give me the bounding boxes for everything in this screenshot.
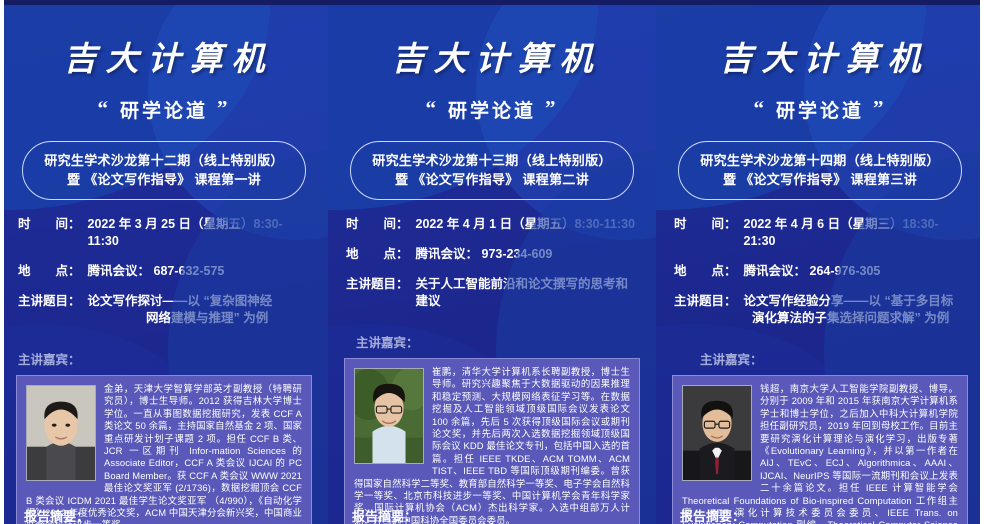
top-strip — [656, 0, 984, 5]
topic-line-2: 网络建模与推理” 为例 — [88, 310, 273, 327]
place-value: 腾讯会议： 973-234-609 — [416, 246, 553, 263]
footer-abstract-label-1: 报告摘要： — [0, 506, 328, 524]
info-row-time: 时 间： 2022 年 4 月 1 日（星期五）8:30-11:30 — [346, 216, 638, 233]
slogan: “研学论道” — [342, 96, 642, 123]
footer-abstract-label-2: 报告摘要： — [328, 506, 656, 524]
slogan: “研学论道” — [670, 96, 970, 123]
capsule-line-2: 暨 《论文写作指导》 课程第三讲 — [685, 170, 955, 189]
right-edge-strip — [980, 0, 984, 524]
info-row-topic: 主讲题目： 论文写作探讨——以 “复杂图神经 网络建模与推理” 为例 — [18, 293, 310, 327]
capsule-line-1: 研究生学术沙龙第十三期（线上特别版） — [357, 151, 627, 170]
footer-abstract-label-3: 报告摘要： — [656, 506, 984, 524]
topic-label: 主讲题目： — [346, 276, 409, 293]
event-title-capsule: 研究生学术沙龙第十四期（线上特别版） 暨 《论文写作指导》 课程第三讲 — [678, 141, 962, 200]
event-info: 时 间： 2022 年 4 月 1 日（星期五）8:30-11:30 地 点： … — [328, 216, 656, 310]
info-row-topic: 主讲题目： 关于人工智能前沿和论文撰写的思考和建议 — [346, 276, 638, 310]
poster-panel-1: 吉大计算机 “研学论道” 研究生学术沙龙第十二期（线上特别版） 暨 《论文写作指… — [0, 0, 328, 524]
topic-line-1: 论文写作探讨——以 “复杂图神经 — [88, 294, 273, 308]
time-label: 时 间： — [674, 216, 737, 233]
left-edge-strip — [0, 0, 4, 524]
place-value: 腾讯会议： 264-976-305 — [744, 263, 881, 280]
open-quote-icon: “ — [744, 96, 776, 120]
slogan-text: 研学论道 — [448, 101, 536, 122]
speaker-photo-3 — [682, 385, 752, 481]
topic-value: 论文写作经验分享——以 “基于多目标 演化算法的子集选择问题求解” 为例 — [744, 293, 954, 327]
topic-label: 主讲题目： — [18, 293, 81, 310]
time-value: 2022 年 3 月 25 日（星期五）8:30-11:30 — [88, 216, 310, 250]
capsule-line-1: 研究生学术沙龙第十四期（线上特别版） — [685, 151, 955, 170]
place-label: 地 点： — [18, 263, 81, 280]
info-row-topic: 主讲题目： 论文写作经验分享——以 “基于多目标 演化算法的子集选择问题求解” … — [674, 293, 966, 327]
poster-gallery: 吉大计算机 “研学论道” 研究生学术沙龙第十二期（线上特别版） 暨 《论文写作指… — [0, 0, 984, 524]
open-quote-icon: “ — [416, 96, 448, 120]
close-quote-icon: ” — [536, 96, 568, 120]
info-row-place: 地 点： 腾讯会议： 264-976-305 — [674, 263, 966, 280]
speaker-photo-1 — [26, 385, 96, 481]
topic-line-1: 论文写作经验分享——以 “基于多目标 — [744, 294, 954, 308]
brand-title: 吉大计算机 — [342, 32, 642, 80]
poster-panel-3: 吉大计算机 “研学论道” 研究生学术沙龙第十四期（线上特别版） 暨 《论文写作指… — [656, 0, 984, 524]
info-row-time: 时 间： 2022 年 4 月 6 日（星期三）18:30-21:30 — [674, 216, 966, 250]
place-label: 地 点： — [346, 246, 409, 263]
place-label: 地 点： — [674, 263, 737, 280]
speaker-photo-2 — [354, 368, 424, 464]
capsule-line-1: 研究生学术沙龙第十二期（线上特别版） — [29, 151, 299, 170]
info-row-place: 地 点： 腾讯会议： 973-234-609 — [346, 246, 638, 263]
speaker-bio-card-2: 崔鹏，清华大学计算机系长聘副教授，博士生导师。研究兴趣聚焦于大数据驱动的因果推理… — [344, 358, 640, 524]
topic-value: 论文写作探讨——以 “复杂图神经 网络建模与推理” 为例 — [88, 293, 273, 327]
speaker-bio-card-3: 钱超，南京大学人工智能学院副教授、博导。分别于 2009 年和 2015 年获南… — [672, 375, 968, 524]
capsule-line-2: 暨 《论文写作指导》 课程第一讲 — [29, 170, 299, 189]
topic-label: 主讲题目： — [674, 293, 737, 310]
top-strip — [0, 0, 328, 5]
place-value: 腾讯会议： 687-632-575 — [88, 263, 225, 280]
close-quote-icon: ” — [208, 96, 240, 120]
topic-line-2: 演化算法的子集选择问题求解” 为例 — [744, 310, 954, 327]
event-info: 时 间： 2022 年 4 月 6 日（星期三）18:30-21:30 地 点：… — [656, 216, 984, 327]
guest-label: 主讲嘉宾： — [656, 349, 984, 368]
topic-value: 关于人工智能前沿和论文撰写的思考和建议 — [416, 276, 638, 310]
speaker-bio-card-1: 金弟，天津大学智算学部英才副教授（特聘研究员），博士生导师。2012 获得吉林大… — [16, 375, 312, 524]
time-label: 时 间： — [346, 216, 409, 233]
info-row-place: 地 点： 腾讯会议： 687-632-575 — [18, 263, 310, 280]
open-quote-icon: “ — [88, 96, 120, 120]
close-quote-icon: ” — [864, 96, 896, 120]
capsule-line-2: 暨 《论文写作指导》 课程第二讲 — [357, 170, 627, 189]
poster-panel-2: 吉大计算机 “研学论道” 研究生学术沙龙第十三期（线上特别版） 暨 《论文写作指… — [328, 0, 656, 524]
guest-label: 主讲嘉宾： — [0, 349, 328, 368]
event-title-capsule: 研究生学术沙龙第十三期（线上特别版） 暨 《论文写作指导》 课程第二讲 — [350, 141, 634, 200]
slogan-text: 研学论道 — [776, 101, 864, 122]
brand-title: 吉大计算机 — [14, 32, 314, 80]
time-value: 2022 年 4 月 1 日（星期五）8:30-11:30 — [416, 216, 636, 233]
event-title-capsule: 研究生学术沙龙第十二期（线上特别版） 暨 《论文写作指导》 课程第一讲 — [22, 141, 306, 200]
guest-label: 主讲嘉宾： — [328, 332, 656, 351]
time-label: 时 间： — [18, 216, 81, 233]
brand-title: 吉大计算机 — [670, 32, 970, 80]
info-row-time: 时 间： 2022 年 3 月 25 日（星期五）8:30-11:30 — [18, 216, 310, 250]
time-value: 2022 年 4 月 6 日（星期三）18:30-21:30 — [744, 216, 966, 250]
slogan-text: 研学论道 — [120, 101, 208, 122]
slogan: “研学论道” — [14, 96, 314, 123]
top-strip — [328, 0, 656, 5]
event-info: 时 间： 2022 年 3 月 25 日（星期五）8:30-11:30 地 点：… — [0, 216, 328, 327]
